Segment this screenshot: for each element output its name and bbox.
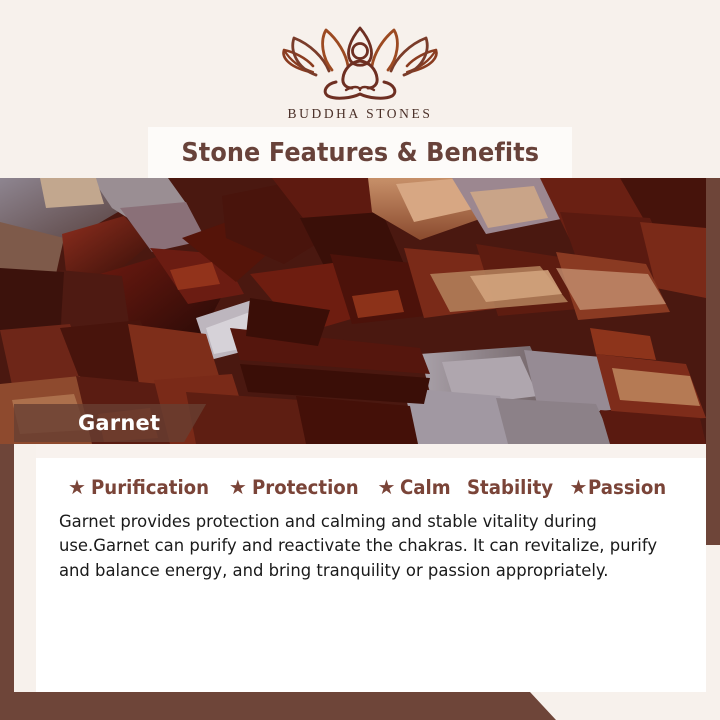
stone-name-tag: Garnet xyxy=(14,404,206,442)
benefit-label: Protection xyxy=(252,476,359,499)
star-icon: ★ xyxy=(378,478,396,498)
star-icon: ★ xyxy=(229,478,247,498)
content-panel: ★ Purification ★ Protection ★ Calm ★ Sta… xyxy=(36,458,706,692)
benefit-label: Purification xyxy=(91,476,209,499)
brand-name: BUDDHA STONES xyxy=(288,106,433,122)
frame-bottom-bar xyxy=(0,692,720,720)
page-title: Stone Features & Benefits xyxy=(181,138,539,168)
benefit-passion: ★ Passion xyxy=(570,476,673,499)
benefit-stability: ★ Stability xyxy=(467,476,560,499)
benefit-purification: ★ Purification xyxy=(68,476,218,499)
benefit-protection: ★ Protection xyxy=(229,476,367,499)
stone-description: Garnet provides protection and calming a… xyxy=(58,510,680,583)
benefits-list: ★ Purification ★ Protection ★ Calm ★ Sta… xyxy=(58,476,684,499)
benefit-label: Passion xyxy=(588,476,666,499)
stone-name: Garnet xyxy=(78,411,160,435)
title-band: Stone Features & Benefits xyxy=(148,127,572,178)
benefit-calm: ★ Calm xyxy=(378,476,455,499)
lotus-meditation-icon xyxy=(280,26,440,100)
benefit-label: Calm xyxy=(400,476,451,499)
divider-strip xyxy=(36,444,706,458)
stone-features-poster: BUDDHA STONES Stone Features & Benefits xyxy=(0,0,720,720)
star-icon: ★ xyxy=(570,478,588,498)
star-icon: ★ xyxy=(68,478,86,498)
benefit-label: Stability xyxy=(467,476,553,499)
